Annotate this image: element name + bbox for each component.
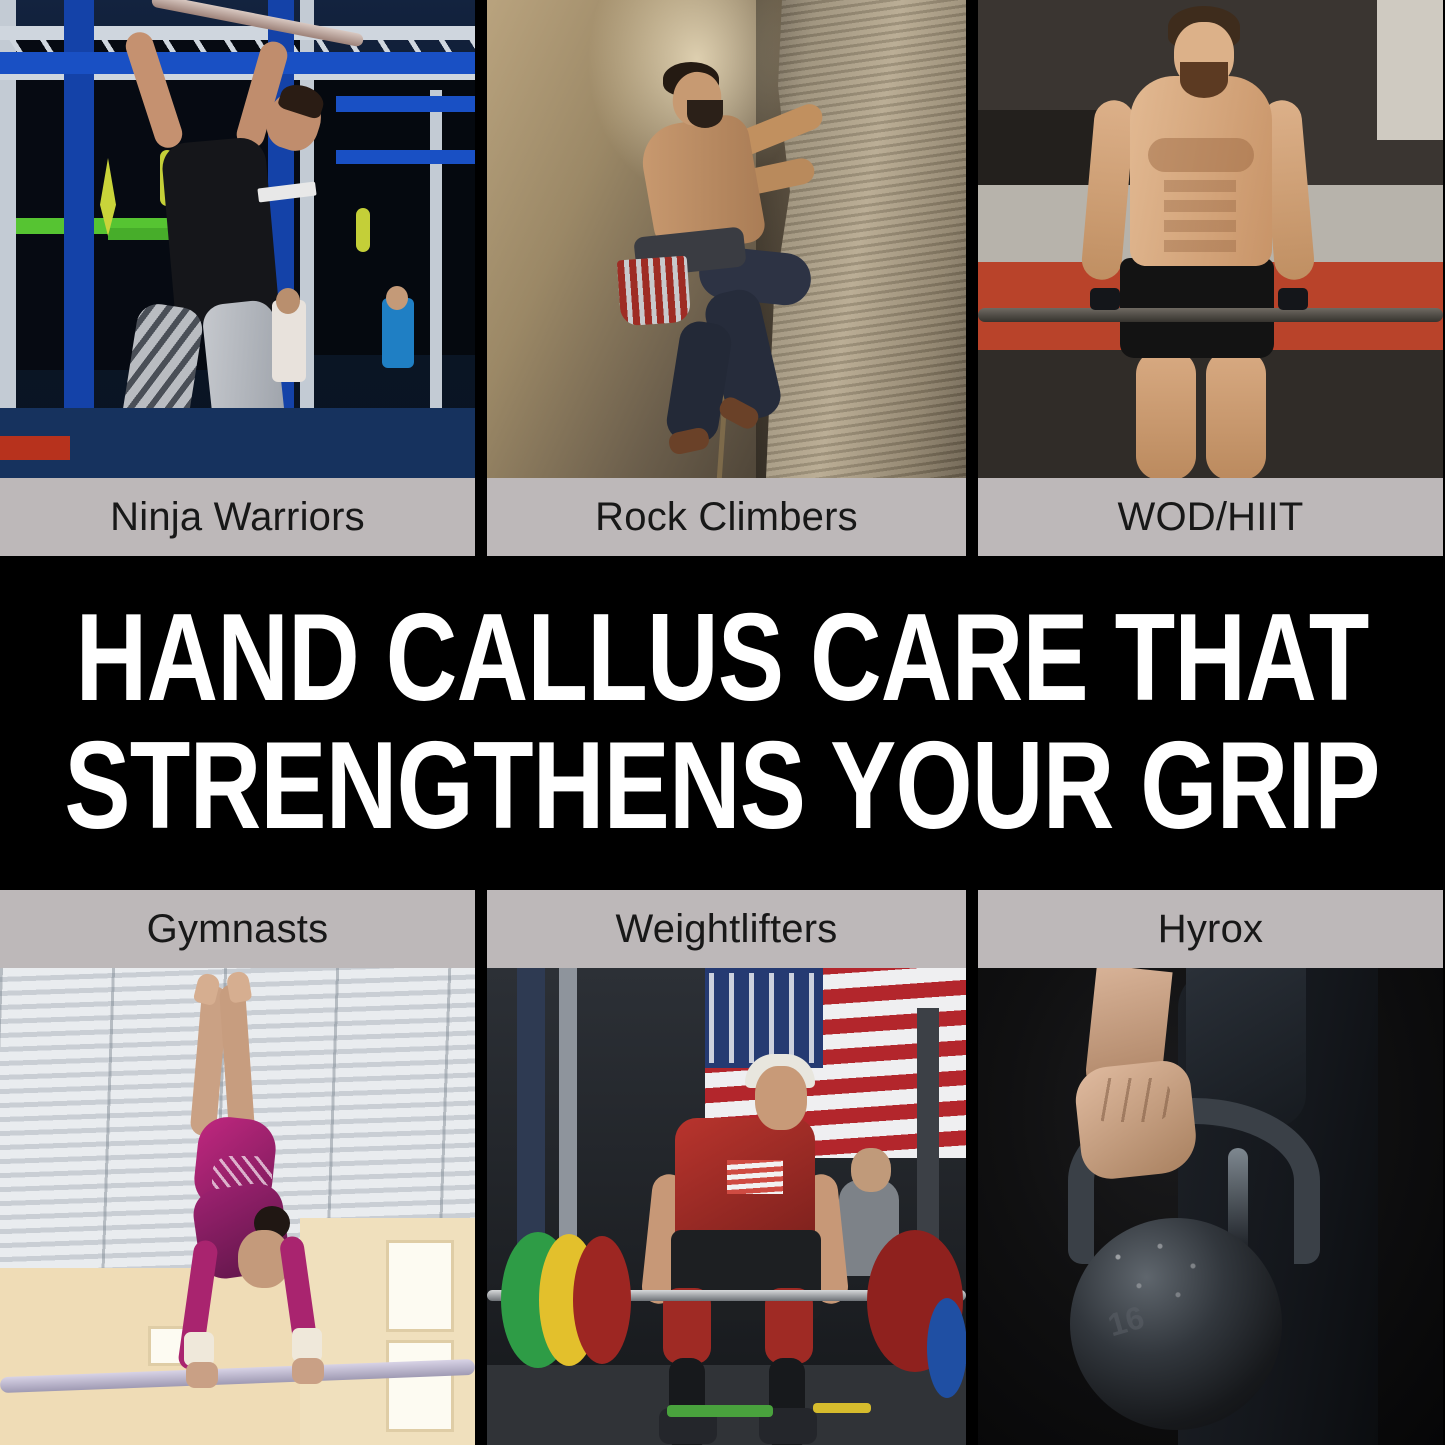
gutter-top-1 — [475, 0, 487, 478]
label-rock-climbers: Rock Climbers — [487, 478, 966, 556]
headline-line-2: STRENGTHENS YOUR GRIP — [65, 723, 1380, 851]
promo-poster: Ninja Warriors Rock Climbers WOD/HIIT HA… — [0, 0, 1445, 1445]
gutter-top-2 — [966, 0, 978, 478]
image-wod-hiit — [978, 0, 1443, 478]
bottom-label-row: Gymnasts Weightlifters Hyrox — [0, 890, 1445, 968]
image-rock-climbers — [487, 0, 966, 478]
label-weightlifters: Weightlifters — [487, 890, 966, 968]
bottom-image-row: 16 — [0, 968, 1445, 1445]
headline-line-1: HAND CALLUS CARE THAT — [76, 595, 1369, 723]
label-ninja-warriors: Ninja Warriors — [0, 478, 475, 556]
top-label-row: Ninja Warriors Rock Climbers WOD/HIIT — [0, 478, 1445, 556]
gutter-bot-1 — [475, 968, 487, 1445]
label-wod-hiit: WOD/HIIT — [978, 478, 1443, 556]
gutter-bot-label-2 — [966, 890, 978, 968]
image-ninja-warriors — [0, 0, 475, 478]
gutter-bot-label-1 — [475, 890, 487, 968]
gutter-top-label-1 — [475, 478, 487, 556]
label-hyrox: Hyrox — [978, 890, 1443, 968]
headline-block: HAND CALLUS CARE THAT STRENGTHENS YOUR G… — [0, 556, 1445, 890]
top-image-row — [0, 0, 1445, 478]
image-weightlifters — [487, 968, 966, 1445]
label-gymnasts: Gymnasts — [0, 890, 475, 968]
image-hyrox: 16 — [978, 968, 1443, 1445]
image-gymnasts — [0, 968, 475, 1445]
gutter-bot-2 — [966, 968, 978, 1445]
gutter-top-label-2 — [966, 478, 978, 556]
